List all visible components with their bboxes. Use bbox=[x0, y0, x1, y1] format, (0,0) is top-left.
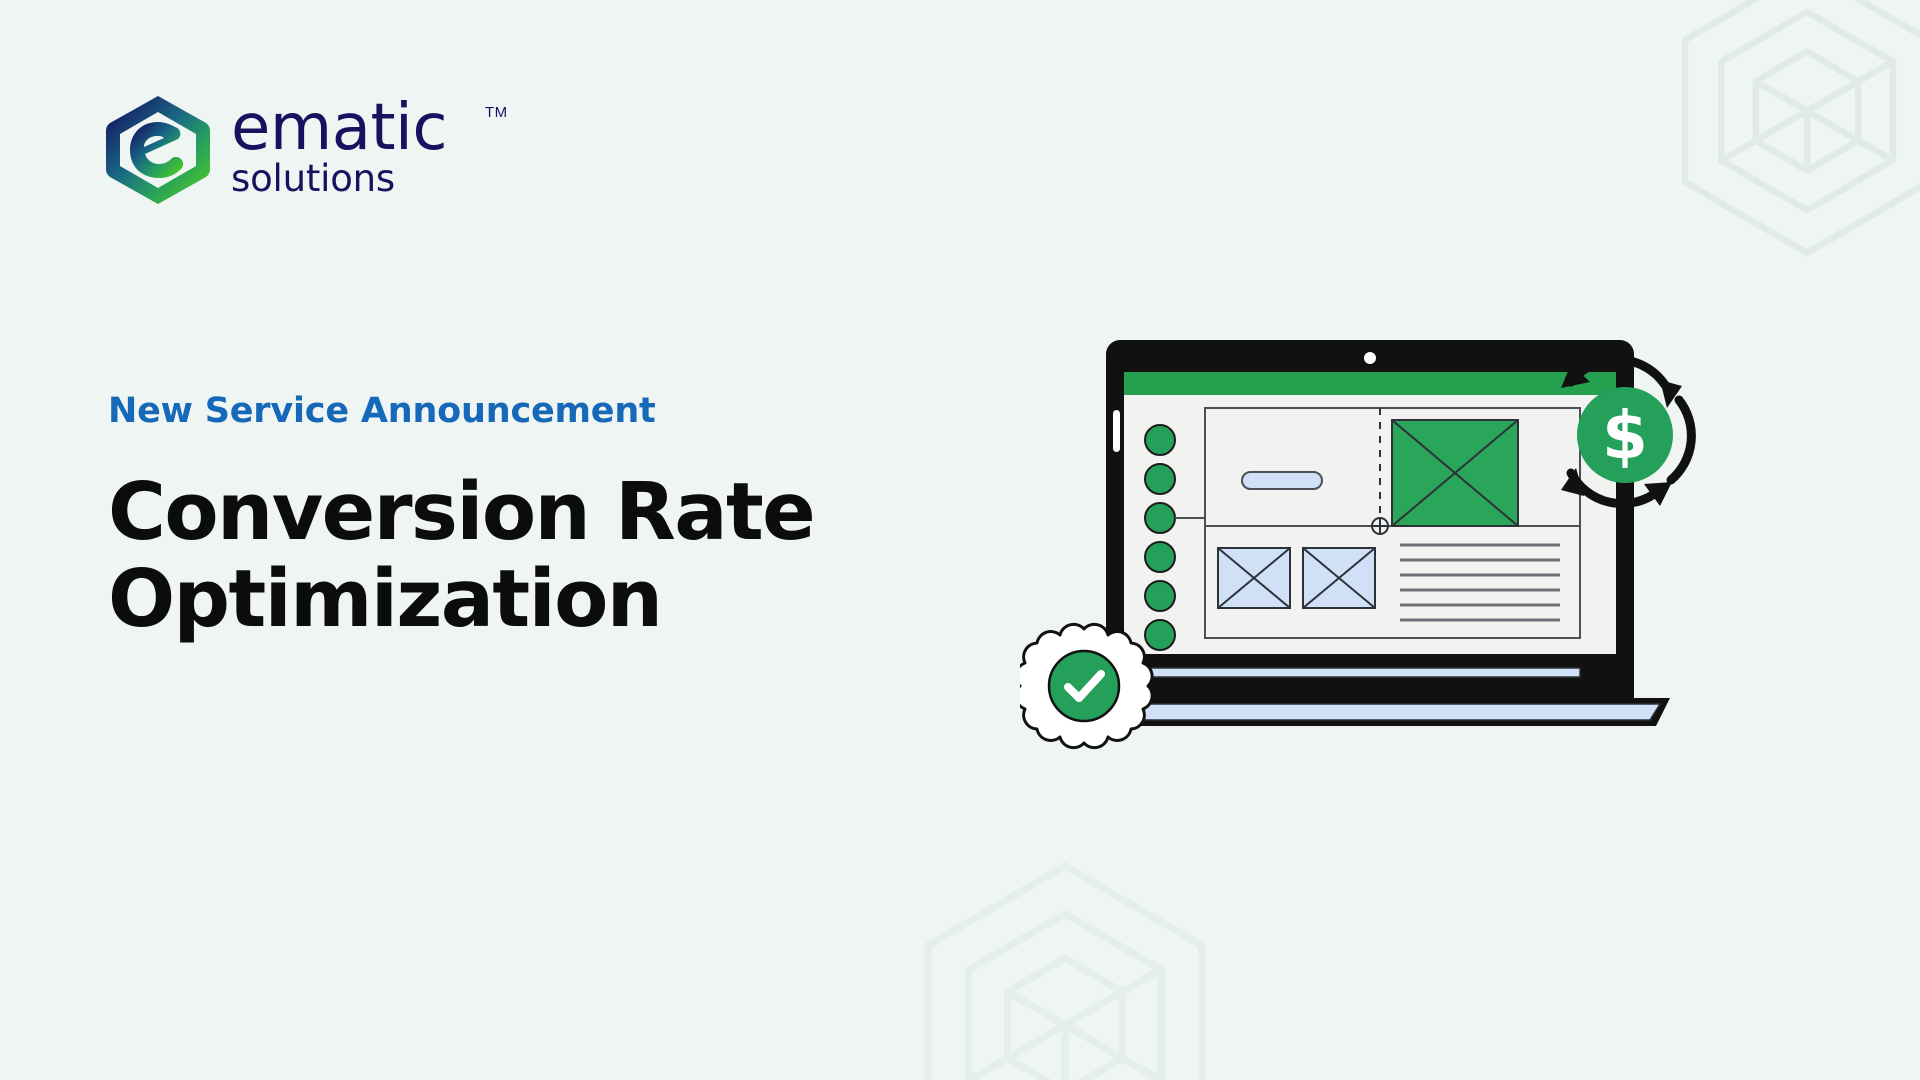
verified-check-rosette-icon bbox=[1020, 624, 1152, 747]
eyebrow-label: New Service Announcement bbox=[108, 392, 938, 431]
logo-wordmark-text: ematic bbox=[231, 98, 447, 159]
wireframe-canvas bbox=[1205, 408, 1580, 638]
logo-wordmark: ematic TM solutions bbox=[231, 98, 447, 199]
ematic-hexagon-e-logo-icon bbox=[106, 96, 210, 204]
logo-tagline-text: solutions bbox=[231, 160, 447, 199]
slide-canvas: ematic TM solutions New Service Announce… bbox=[0, 0, 1920, 1080]
page-title-line-1: Conversion Rate bbox=[108, 466, 814, 558]
page-title-line-2: Optimization bbox=[108, 553, 661, 645]
thumbnail-placeholder bbox=[1303, 548, 1375, 608]
browser-header-bar bbox=[1124, 372, 1616, 395]
hero-image-placeholder bbox=[1392, 420, 1518, 526]
dollar-symbol: $ bbox=[1602, 397, 1648, 474]
logo-trademark-symbol: TM bbox=[485, 104, 508, 121]
resize-handle-icon bbox=[1372, 518, 1388, 534]
brand-logo: ematic TM solutions bbox=[106, 96, 447, 204]
pill-placeholder bbox=[1242, 472, 1322, 489]
thumbnail-placeholder bbox=[1218, 548, 1290, 608]
page-title: Conversion Rate Optimization bbox=[108, 469, 888, 644]
headline-block: New Service Announcement Conversion Rate… bbox=[108, 392, 938, 644]
laptop-base bbox=[1080, 656, 1670, 726]
hexagon-e-watermark-icon bbox=[1642, 0, 1920, 276]
laptop-wireframe-illustration: $ bbox=[1020, 330, 1820, 890]
